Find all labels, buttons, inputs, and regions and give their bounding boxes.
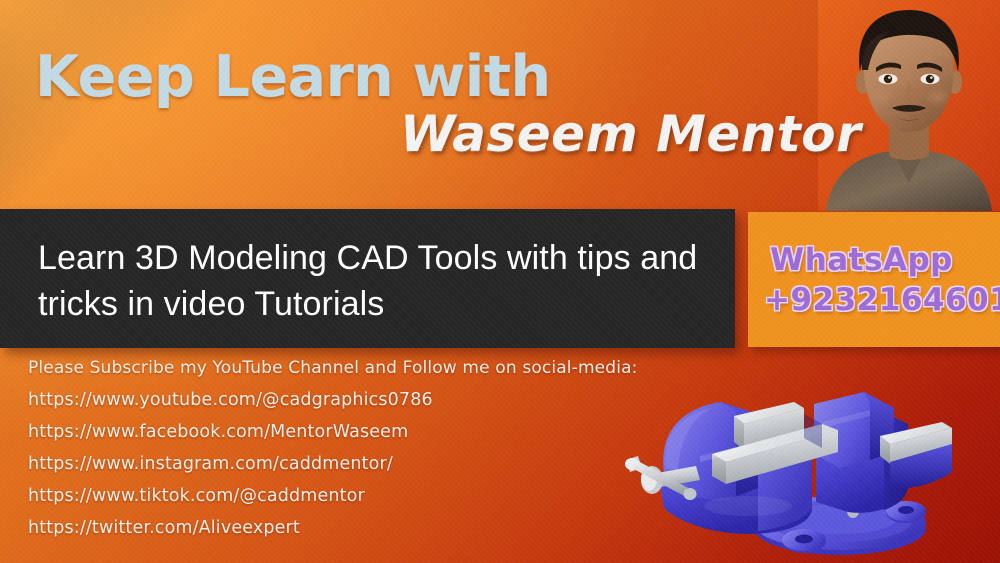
social-links-block: Please Subscribe my YouTube Channel and … (28, 352, 638, 544)
whatsapp-label: WhatsApp (770, 242, 953, 278)
subscribe-prompt: Please Subscribe my YouTube Channel and … (28, 352, 638, 384)
link-twitter[interactable]: https://twitter.com/Aliveexpert (28, 512, 638, 544)
promo-banner-canvas: Keep Learn with Waseem Mentor Learn 3D M… (0, 0, 1000, 563)
link-tiktok[interactable]: https://www.tiktok.com/@caddmentor (28, 480, 638, 512)
link-facebook[interactable]: https://www.facebook.com/MentorWaseem (28, 416, 638, 448)
headline-line-2: Waseem Mentor (400, 105, 861, 163)
whatsapp-contact-box[interactable]: WhatsApp +923216460109 (748, 212, 1000, 347)
tagline-text: Learn 3D Modeling CAD Tools with tips an… (38, 235, 698, 327)
bench-vise-illustration (608, 356, 1000, 563)
link-youtube[interactable]: https://www.youtube.com/@cadgraphics0786 (28, 384, 638, 416)
whatsapp-number[interactable]: +923216460109 (764, 282, 1000, 318)
headline-line-1: Keep Learn with (35, 44, 551, 110)
link-instagram[interactable]: https://www.instagram.com/caddmentor/ (28, 448, 638, 480)
tagline-banner: Learn 3D Modeling CAD Tools with tips an… (0, 209, 735, 348)
